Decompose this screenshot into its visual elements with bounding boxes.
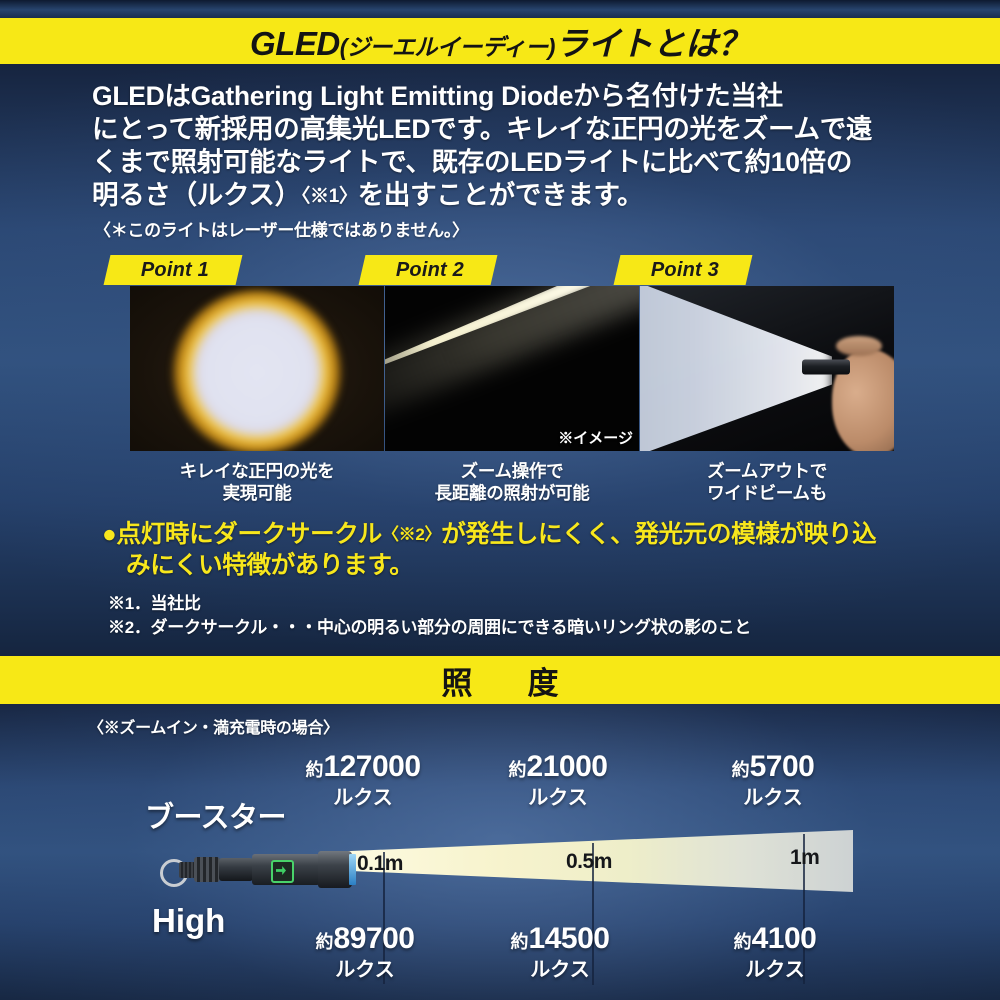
point-tag-1: Point 1 — [104, 255, 243, 285]
header-title-tail: ライトとは？ — [555, 25, 750, 62]
mode-label-high: High — [152, 902, 225, 940]
lux-number: 4100 — [752, 922, 817, 955]
distance-label-2: 1m — [790, 846, 819, 870]
power-button-icon — [271, 860, 294, 883]
point-caption-3: ズームアウトで ワイドビームも — [640, 460, 894, 504]
intro-line-4-a: 明るさ（ルクス） — [92, 180, 301, 210]
point-caption-1: キレイな正円の光を 実現可能 — [130, 460, 384, 504]
wide-beam-hand-photo — [640, 286, 894, 451]
intro-line-4: 明るさ（ルクス）〈※1〉を出すことができます。 — [92, 179, 922, 213]
lux-value-high-1: 約14500 ルクス — [485, 922, 635, 982]
header-title-main: GLED — [250, 25, 340, 62]
lux-number: 89700 — [334, 922, 415, 955]
illuminance-banner: 照 度 — [0, 656, 1000, 704]
point-tag-label-3: Point 3 — [651, 259, 719, 282]
intro-line-3: くまで照射可能なライトで、既存のLEDライトに比べて約10倍の — [92, 146, 922, 179]
lux-value-high-2: 約4100 ルクス — [705, 922, 845, 982]
intro-line-1: GLEDはGathering Light Emitting Diodeから名付け… — [92, 80, 922, 113]
flashlight-product-graphic — [160, 846, 355, 892]
approx-prefix: 約 — [509, 760, 527, 780]
lux-unit: ルクス — [283, 781, 443, 810]
point-tag-2: Point 2 — [359, 255, 498, 285]
header-title-reading: (ジーエルイーディー) — [340, 34, 555, 60]
top-dark-stripe — [0, 0, 1000, 18]
point-card-1: Point 1 キレイな正円の光を 実現可能 — [130, 286, 384, 504]
point-caption-3-line-2: ワイドビームも — [640, 482, 894, 504]
finger-icon — [836, 336, 882, 356]
tailcap-icon — [179, 862, 195, 878]
midbody-icon — [219, 858, 253, 881]
illuminance-banner-title: 照 度 — [430, 658, 571, 703]
laser-disclaimer: 〈＊このライトはレーザー仕様ではありません。〉 — [94, 216, 469, 241]
feature-bullet-line-2: みにくい特徴があります。 — [102, 550, 942, 581]
intro-line-4-b: を出すことができます。 — [358, 180, 644, 210]
header-banner: GLED(ジーエルイーディー)ライトとは？ — [0, 18, 1000, 64]
point-tag-label-1: Point 1 — [141, 259, 209, 282]
lux-number: 14500 — [529, 922, 610, 955]
lux-value-booster-1: 約21000 ルクス — [483, 750, 633, 810]
lux-unit: ルクス — [705, 953, 845, 982]
point-caption-2-line-1: ズーム操作で — [385, 460, 639, 482]
lux-number: 127000 — [323, 750, 420, 783]
distance-label-0: 0.1m — [357, 852, 403, 876]
lux-number: 21000 — [527, 750, 608, 783]
intro-paragraph: GLEDはGathering Light Emitting Diodeから名付け… — [92, 80, 922, 213]
lux-unit: ルクス — [485, 953, 635, 982]
point-card-2: Point 2 ※イメージ ズーム操作で 長距離の照射が可能 — [385, 286, 639, 504]
point-caption-2: ズーム操作で 長距離の照射が可能 — [385, 460, 639, 504]
lux-unit: ルクス — [483, 781, 633, 810]
bullet-mark-icon: ● — [102, 521, 117, 548]
footnote-2: ※2．ダークサークル・・・中心の明るい部分の周囲にできる暗いリング状の影のこと — [108, 616, 751, 640]
approx-prefix: 約 — [734, 932, 752, 952]
image-disclaimer-note: ※イメージ — [558, 427, 633, 448]
lux-number: 5700 — [750, 750, 815, 783]
feature-line-1-a: 点灯時にダークサークル — [117, 521, 382, 548]
footnote-1: ※1．当社比 — [108, 592, 751, 616]
point-caption-3-line-1: ズームアウトで — [640, 460, 894, 482]
feature-bullet-line-1: ●点灯時にダークサークル〈※2〉が発生しにくく、発光元の模様が映り込 — [102, 519, 942, 550]
round-spot-beam-photo — [130, 286, 384, 451]
lux-value-booster-2: 約5700 ルクス — [703, 750, 843, 810]
lux-unit: ルクス — [285, 953, 445, 982]
footnote-ref-2: 〈※2〉 — [382, 525, 441, 544]
footnote-ref-1: 〈※1〉 — [301, 186, 358, 207]
feature-line-1-b: が発生しにくく、発光元の模様が映り込 — [441, 521, 876, 548]
lux-unit: ルクス — [703, 781, 843, 810]
lux-value-high-0: 約89700 ルクス — [285, 922, 445, 982]
approx-prefix: 約 — [732, 760, 750, 780]
head-bezel-icon — [318, 851, 352, 888]
point-card-3: Point 3 ズームアウトで ワイドビームも — [640, 286, 894, 504]
approx-prefix: 約 — [316, 932, 334, 952]
point-tag-3: Point 3 — [614, 255, 753, 285]
point-tag-label-2: Point 2 — [396, 259, 464, 282]
footnote-list: ※1．当社比 ※2．ダークサークル・・・中心の明るい部分の周囲にできる暗いリング… — [108, 592, 751, 640]
mode-label-booster: ブースター — [145, 794, 286, 836]
measurement-condition-note: 〈※ズームイン・満充電時の場合〉 — [88, 714, 339, 738]
intro-line-2: にとって新採用の高集光LEDです。キレイな正円の光をズームで遠 — [92, 113, 922, 146]
infographic-page: GLED(ジーエルイーディー)ライトとは？ GLEDはGathering Lig… — [0, 0, 1000, 1000]
point-caption-2-line-2: 長距離の照射が可能 — [385, 482, 639, 504]
beam-spot-icon — [173, 290, 341, 451]
point-caption-1-line-1: キレイな正円の光を — [130, 460, 384, 482]
illuminance-chart-section: 〈※ズームイン・満充電時の場合〉 ブースター High 0.1m 0.5m 1m… — [0, 704, 1000, 1000]
distance-label-1: 0.5m — [566, 850, 612, 874]
lens-icon — [349, 854, 356, 885]
header-title: GLED(ジーエルイーディー)ライトとは？ — [250, 17, 750, 65]
lux-value-booster-0: 約127000 ルクス — [283, 750, 443, 810]
long-throw-beam-photo: ※イメージ — [385, 286, 639, 451]
approx-prefix: 約 — [305, 760, 323, 780]
approx-prefix: 約 — [511, 932, 529, 952]
feature-bullet: ●点灯時にダークサークル〈※2〉が発生しにくく、発光元の模様が映り込 みにくい特… — [102, 519, 942, 581]
point-caption-1-line-2: 実現可能 — [130, 482, 384, 504]
flashlight-icon — [802, 359, 850, 374]
knurled-grip-icon — [194, 857, 220, 882]
gled-description-section: GLEDはGathering Light Emitting Diodeから名付け… — [0, 64, 1000, 656]
